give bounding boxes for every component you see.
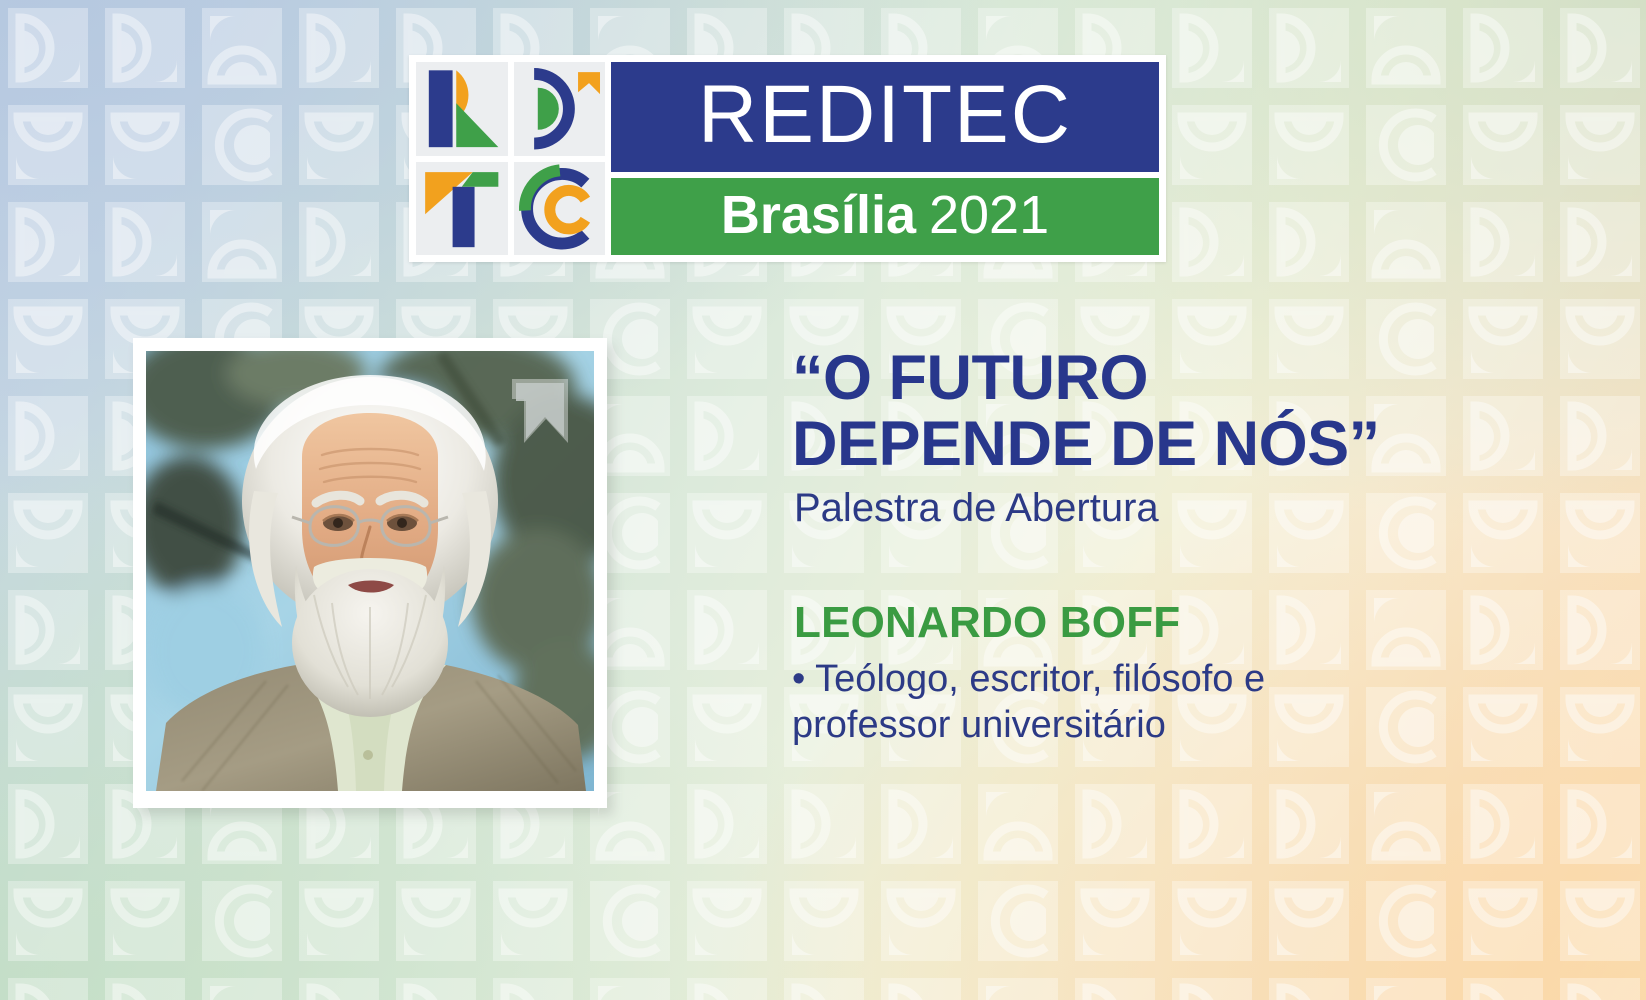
logo-mark-d — [514, 62, 606, 156]
talk-copy-block: “O FUTURO DEPENDE DE NÓS” Palestra de Ab… — [792, 345, 1492, 748]
logo-year: 2021 — [929, 188, 1049, 242]
talk-subtitle: Palestra de Abertura — [794, 485, 1492, 531]
speaker-name: LEONARDO BOFF — [794, 599, 1492, 647]
logo-city: Brasília — [721, 188, 916, 242]
logo-mark-t — [416, 162, 508, 256]
logo-mark-c — [514, 162, 606, 256]
logo-mark-r — [416, 62, 508, 156]
logo-wordmark: REDITEC Brasília 2021 — [611, 62, 1159, 255]
speaker-photo-frame — [133, 338, 607, 808]
logo-letter-marks — [416, 62, 605, 255]
talk-title: “O FUTURO DEPENDE DE NÓS” — [792, 345, 1492, 477]
event-slide: REDITEC Brasília 2021 — [0, 0, 1646, 1000]
reditec-logo: REDITEC Brasília 2021 — [409, 55, 1166, 262]
logo-edition-bar: Brasília 2021 — [611, 178, 1159, 255]
speaker-bio: • Teólogo, escritor, filósofo e professo… — [792, 656, 1372, 749]
logo-acronym-bar: REDITEC — [611, 62, 1159, 172]
speaker-photo — [146, 351, 594, 791]
logo-acronym: REDITEC — [698, 74, 1072, 156]
